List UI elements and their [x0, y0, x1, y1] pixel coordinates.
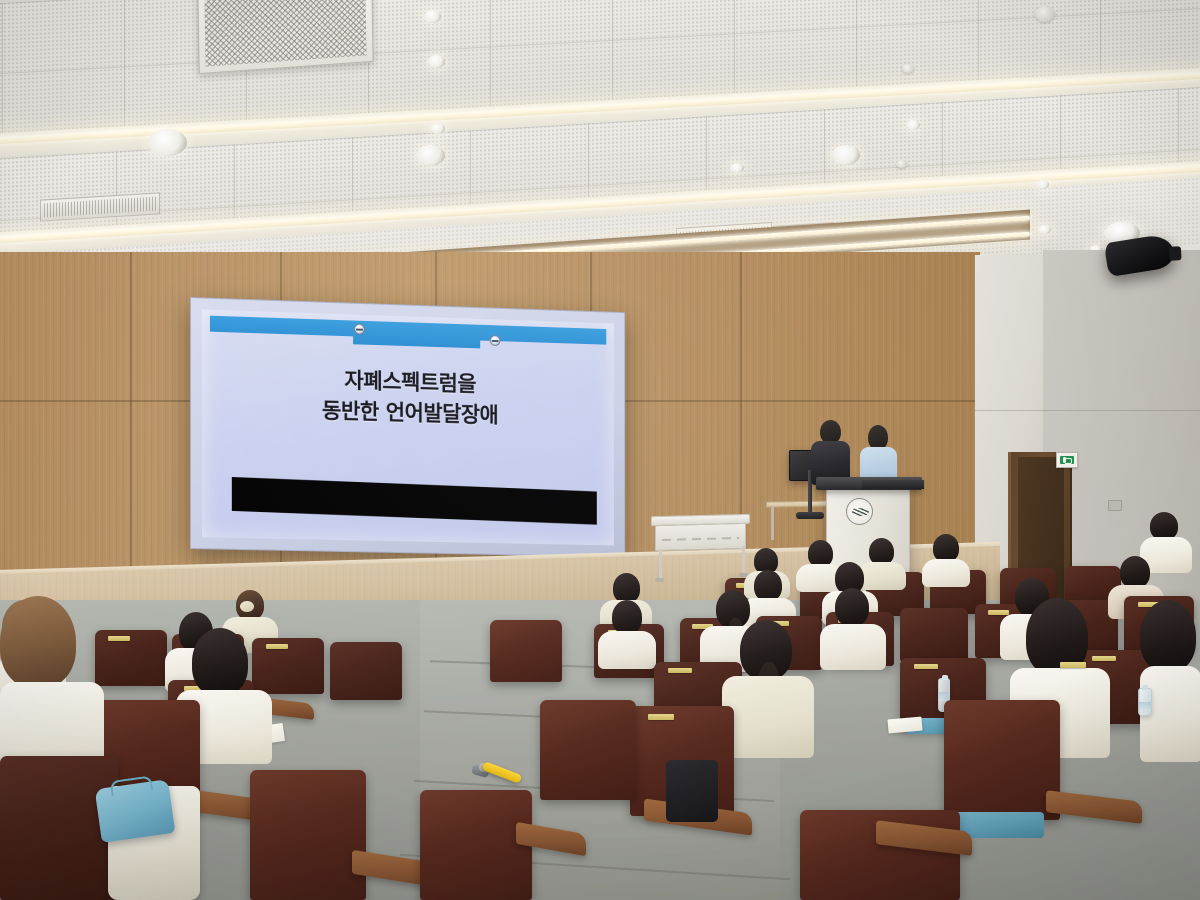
- audience-member: [722, 620, 814, 750]
- dark-backpack: [666, 760, 718, 822]
- screen-mount-screw-left: [354, 324, 365, 335]
- monitor-base: [796, 512, 824, 519]
- chair-back: [540, 700, 636, 800]
- slide-title: 자폐스펙트럼을 동반한 언어발달장애: [202, 361, 614, 434]
- projection-screen[interactable]: 자폐스펙트럼을 동반한 언어발달장애: [190, 297, 625, 557]
- hair-scrunchie: [240, 601, 254, 612]
- podium-crest-icon: [846, 498, 873, 525]
- person-body: [722, 676, 814, 758]
- smoke-detector-1: [1035, 6, 1055, 22]
- lecture-hall-photo: 자폐스펙트럼을 동반한 언어발달장애: [0, 0, 1200, 900]
- exit-running-person-icon: [1060, 456, 1073, 465]
- audience-member: [0, 596, 104, 776]
- screen-mount-bracket: [353, 321, 481, 349]
- podium-desk-lip: [862, 480, 924, 489]
- person-hair: [869, 538, 894, 565]
- downlight-13: [730, 163, 744, 173]
- table-leg-left: [659, 549, 662, 579]
- audience-member: [922, 534, 970, 582]
- seat-number-tag: [668, 668, 692, 673]
- stage-folding-table-panel: [655, 523, 746, 551]
- screen-mount-screw-right: [490, 335, 501, 346]
- person-body: [598, 631, 656, 669]
- seat-number-tag: [1060, 662, 1086, 668]
- person-hair: [0, 596, 76, 688]
- downlight-11: [1038, 225, 1051, 234]
- audience-member: [820, 588, 886, 668]
- exit-sign: [1056, 452, 1078, 468]
- downlight-12: [1037, 180, 1049, 189]
- light-blue-backpack: [95, 779, 176, 843]
- downlight-1: [424, 10, 441, 23]
- smoke-detector-2: [902, 64, 914, 73]
- person-hair: [1150, 512, 1178, 540]
- person-hair: [933, 534, 959, 562]
- smoke-detector-3: [896, 160, 907, 168]
- seat-number-tag: [648, 714, 674, 720]
- downlight-2: [428, 55, 445, 68]
- chair-back: [330, 642, 402, 700]
- seat-number-tag: [108, 636, 130, 641]
- audience-member: [1140, 600, 1200, 760]
- person-hair: [1120, 556, 1150, 588]
- chair-back: [250, 770, 366, 900]
- person-hair: [612, 600, 642, 634]
- seat-number-tag: [914, 664, 938, 669]
- chair-back: [490, 620, 562, 682]
- chair-back: [420, 790, 532, 900]
- downlight-7: [832, 145, 860, 165]
- person-hair: [1140, 600, 1196, 672]
- service-wall-plate: [1108, 500, 1122, 511]
- person-body: [922, 559, 970, 587]
- downlight-3: [148, 129, 187, 156]
- person-hair: [835, 588, 869, 626]
- downlight-6: [430, 123, 445, 134]
- table-foot-left: [655, 578, 664, 582]
- chair-back: [900, 608, 968, 662]
- audience-member: [598, 600, 656, 666]
- water-bottle: [1138, 688, 1152, 716]
- aux-table-leg-1: [771, 506, 774, 540]
- downlight-4: [416, 145, 445, 166]
- handout-paper: [887, 717, 922, 734]
- yellow-umbrella: [472, 762, 528, 792]
- person-body: [820, 624, 886, 670]
- chair-back: [944, 700, 1060, 820]
- ac-cassette-unit: [197, 0, 373, 74]
- downlight-10: [906, 120, 920, 130]
- screen-surface: 자폐스펙트럼을 동반한 언어발달장애: [202, 309, 614, 545]
- person-hair: [613, 573, 640, 603]
- ac-grill: [204, 0, 366, 67]
- person-hair: [192, 628, 248, 696]
- grey-wall-seam: [975, 410, 1200, 411]
- slide-redaction-bar: [232, 477, 597, 525]
- chair-back: [95, 630, 167, 686]
